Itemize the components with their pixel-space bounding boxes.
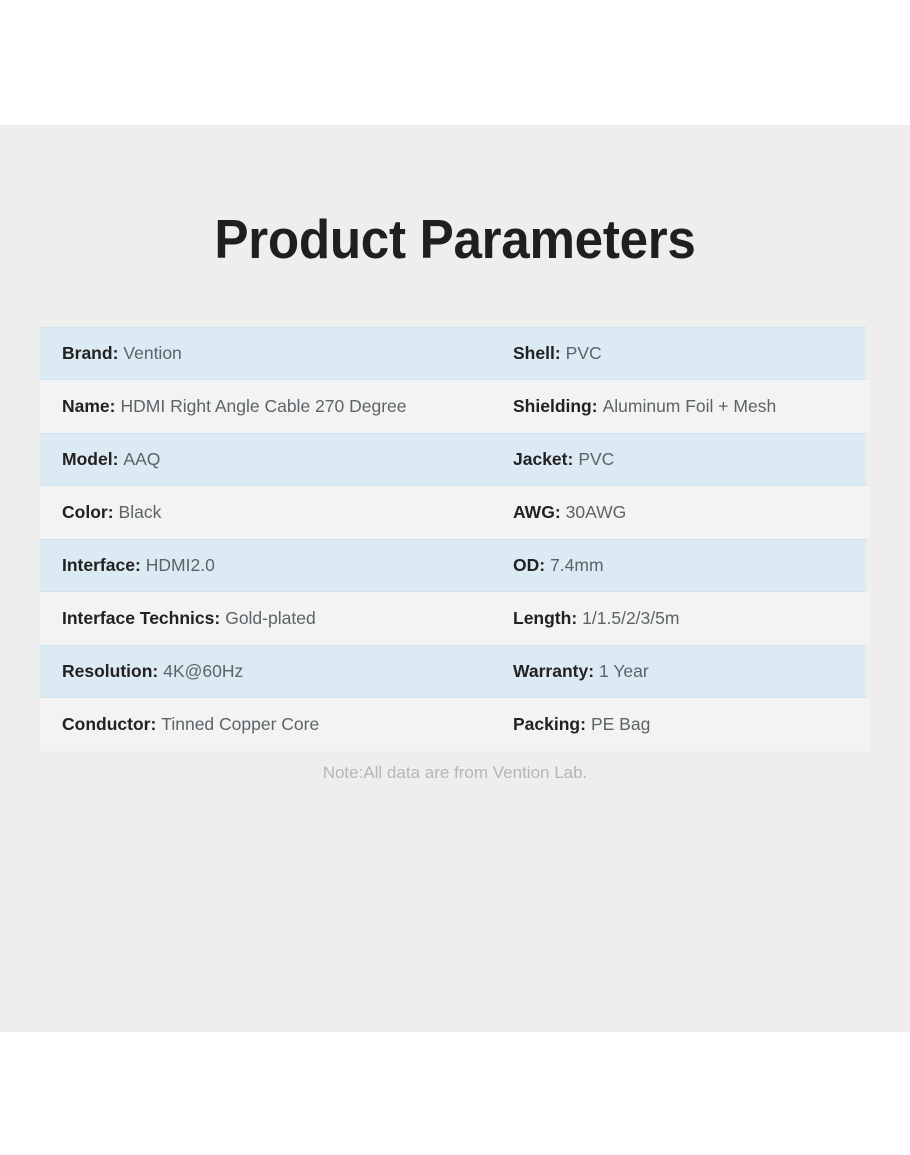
param-value: AAQ (123, 449, 160, 470)
param-separator: : (588, 661, 599, 682)
table-row: Model:AAQJacket:PVC (40, 433, 866, 486)
param-value: Aluminum Foil + Mesh (603, 396, 777, 417)
param-value: Vention (123, 343, 181, 364)
param-value: HDMI Right Angle Cable 270 Degree (121, 396, 407, 417)
param-value: 4K@60Hz (163, 661, 243, 682)
param-value: 1 Year (599, 661, 649, 682)
param-cell-left: Brand:Vention (40, 343, 513, 364)
table-row: Resolution:4K@60HzWarranty:1 Year (40, 645, 866, 698)
param-separator: : (555, 343, 566, 364)
param-key: Shielding (513, 396, 592, 417)
table-row: Conductor:Tinned Copper CorePacking:PE B… (40, 698, 870, 751)
param-cell-right: OD:7.4mm (513, 555, 866, 576)
param-value: HDMI2.0 (146, 555, 215, 576)
param-separator: : (568, 449, 579, 470)
param-value: PE Bag (591, 714, 650, 735)
param-cell-left: Conductor:Tinned Copper Core (40, 714, 513, 735)
param-value: Gold-plated (225, 608, 315, 629)
param-cell-left: Interface:HDMI2.0 (40, 555, 513, 576)
param-key: Color (62, 502, 108, 523)
table-row: Color:BlackAWG:30AWG (40, 486, 870, 539)
param-value: 7.4mm (550, 555, 603, 576)
param-cell-right: Jacket:PVC (513, 449, 866, 470)
param-key: Name (62, 396, 110, 417)
param-cell-right: Packing:PE Bag (513, 714, 870, 735)
param-key: Shell (513, 343, 555, 364)
parameters-table: Brand:VentionShell:PVCName:HDMI Right An… (40, 327, 870, 751)
param-value: PVC (578, 449, 614, 470)
param-cell-right: AWG:30AWG (513, 502, 870, 523)
param-separator: : (135, 555, 146, 576)
param-separator: : (571, 608, 582, 629)
param-separator: : (110, 396, 121, 417)
param-key: Resolution (62, 661, 152, 682)
product-parameters-page: Product Parameters Brand:VentionShell:PV… (0, 0, 910, 1155)
table-row: Brand:VentionShell:PVC (40, 327, 866, 380)
table-note: Note:All data are from Vention Lab. (0, 763, 910, 783)
param-value: Tinned Copper Core (161, 714, 319, 735)
param-separator: : (539, 555, 550, 576)
param-key: Length (513, 608, 571, 629)
param-key: AWG (513, 502, 555, 523)
param-separator: : (214, 608, 225, 629)
table-row: Interface:HDMI2.0OD:7.4mm (40, 539, 866, 592)
param-separator: : (108, 502, 119, 523)
param-key: Interface (62, 555, 135, 576)
table-row: Interface Technics:Gold-platedLength:1/1… (40, 592, 870, 645)
param-cell-right: Shielding:Aluminum Foil + Mesh (513, 396, 870, 417)
param-value: 30AWG (566, 502, 627, 523)
param-separator: : (555, 502, 566, 523)
param-cell-right: Warranty:1 Year (513, 661, 866, 682)
param-separator: : (150, 714, 161, 735)
param-key: OD (513, 555, 539, 576)
param-value: PVC (566, 343, 602, 364)
param-value: Black (119, 502, 162, 523)
param-cell-left: Color:Black (40, 502, 513, 523)
param-cell-left: Model:AAQ (40, 449, 513, 470)
param-key: Jacket (513, 449, 568, 470)
param-cell-left: Name:HDMI Right Angle Cable 270 Degree (40, 396, 513, 417)
param-key: Model (62, 449, 113, 470)
param-value: 1/1.5/2/3/5m (582, 608, 679, 629)
param-key: Interface Technics (62, 608, 214, 629)
param-key: Warranty (513, 661, 588, 682)
table-row: Name:HDMI Right Angle Cable 270 DegreeSh… (40, 380, 870, 433)
param-separator: : (113, 449, 124, 470)
param-key: Packing (513, 714, 580, 735)
param-separator: : (113, 343, 124, 364)
page-title: Product Parameters (32, 212, 878, 267)
param-cell-left: Interface Technics:Gold-plated (40, 608, 513, 629)
param-key: Brand (62, 343, 113, 364)
param-key: Conductor (62, 714, 150, 735)
param-separator: : (592, 396, 603, 417)
param-separator: : (580, 714, 591, 735)
param-separator: : (152, 661, 163, 682)
param-cell-right: Length:1/1.5/2/3/5m (513, 608, 870, 629)
param-cell-right: Shell:PVC (513, 343, 866, 364)
param-cell-left: Resolution:4K@60Hz (40, 661, 513, 682)
